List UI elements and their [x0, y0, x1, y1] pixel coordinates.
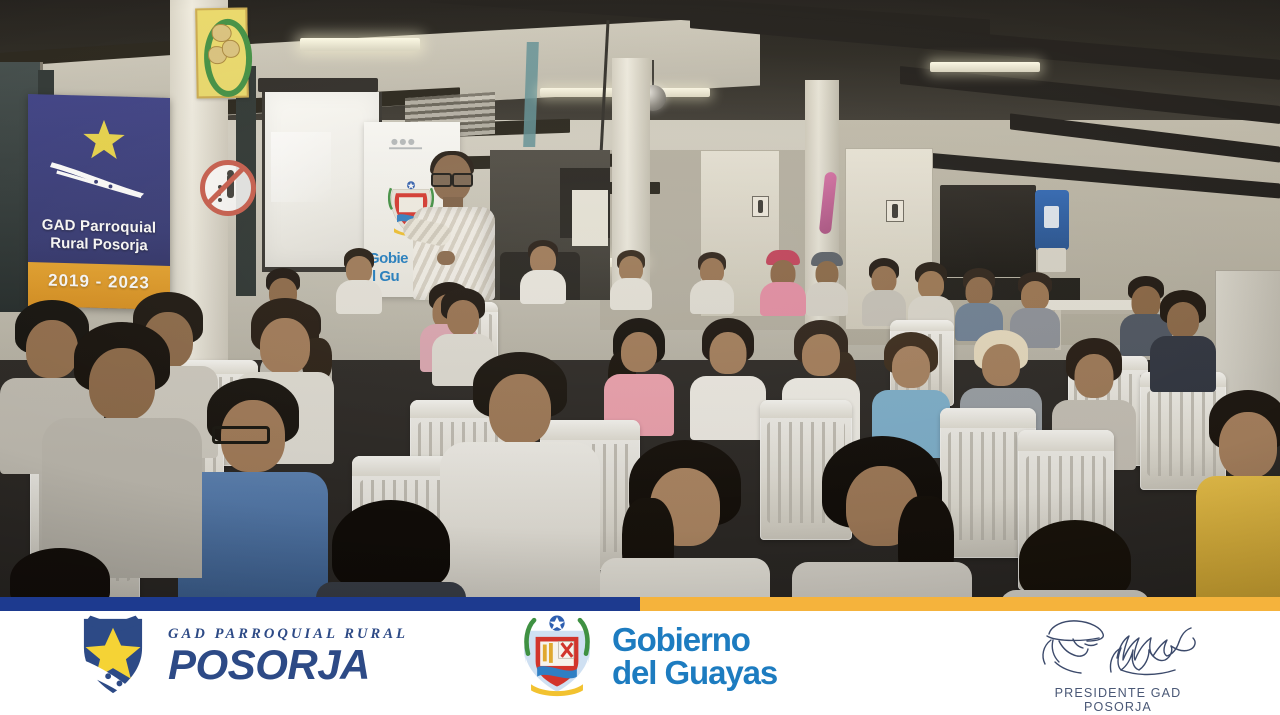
poster-shape [222, 40, 240, 58]
water-dispenser-base [1038, 248, 1066, 272]
audience-person [862, 258, 906, 320]
posorja-logo-lockup: GAD PARROQUIAL RURAL POSORJA [72, 614, 408, 698]
audience-person [690, 318, 766, 434]
audience-person [908, 262, 954, 326]
president-signature-block: PRESIDENTE GAD POSORJA [1022, 616, 1214, 714]
gobierno-guayas-logo-lockup: Gobierno del Guayas [516, 614, 777, 698]
no-littering-sign-icon [200, 160, 256, 216]
banner-line2: Rural Posorja [28, 234, 170, 255]
posorja-wordmark: GAD PARROQUIAL RURAL POSORJA [168, 626, 408, 687]
mens-restroom-sign-icon [752, 196, 769, 217]
audience-person-foreground [600, 440, 770, 597]
audience-person-foreground [1000, 520, 1150, 597]
wall-artwork-poster [195, 8, 249, 99]
audience-person-foreground [1196, 390, 1280, 597]
poster-page: GAD Parroquial Rural Posorja 2019 - 2023 [0, 0, 1280, 715]
posorja-title: POSORJA [168, 644, 408, 687]
water-dispenser [1035, 190, 1069, 250]
audience-person-foreground [42, 322, 202, 572]
color-divider-bar [0, 597, 1280, 611]
guayas-coat-of-arms-icon [516, 614, 598, 698]
audience-person [336, 248, 382, 308]
banner-years: 2019 - 2023 [28, 270, 170, 294]
audience-person-foreground [316, 500, 466, 597]
wave-stripes-icon [50, 157, 146, 200]
ceiling-light [300, 38, 420, 51]
presenter-speaker [405, 155, 503, 300]
star-icon [82, 118, 126, 163]
audience-person [872, 332, 950, 452]
event-photograph: GAD Parroquial Rural Posorja 2019 - 2023 [0, 0, 1280, 597]
projector-screen-case [258, 78, 378, 92]
audience-person [955, 268, 1003, 334]
eyeglasses [212, 426, 270, 444]
audience-person-foreground [792, 436, 972, 597]
posorja-shield-star-icon [72, 614, 154, 698]
womens-restroom-sign-icon [886, 200, 904, 222]
audience-person-with-cap [760, 250, 806, 310]
audience-person-foreground [0, 548, 120, 597]
mirror-ball-wire [652, 60, 654, 88]
presenter-hand [437, 251, 455, 265]
divider-right-orange [640, 597, 1280, 611]
guayas-line2: del Guayas [612, 656, 777, 689]
partner-logo-icon [386, 136, 432, 154]
ceiling-light [930, 62, 1040, 72]
audience-person [520, 240, 566, 300]
signature-caption: PRESIDENTE GAD POSORJA [1022, 686, 1214, 714]
gad-posorja-banner: GAD Parroquial Rural Posorja 2019 - 2023 [28, 94, 170, 310]
guayas-line1: Gobierno [612, 623, 777, 656]
audience-person [610, 250, 652, 306]
audience-person [1150, 290, 1216, 386]
presenter-glasses [431, 173, 473, 183]
guayas-wordmark: Gobierno del Guayas [612, 623, 777, 689]
manuel-romero-signature-icon [1025, 616, 1211, 678]
av-equipment [940, 185, 1036, 277]
white-panel [572, 190, 608, 246]
audience-person [604, 318, 674, 428]
screen-glare [271, 132, 331, 202]
audience-person-with-cap [806, 252, 848, 310]
sign-litter-dot [218, 198, 222, 202]
audience-person [690, 252, 734, 310]
divider-left-blue [0, 597, 640, 611]
